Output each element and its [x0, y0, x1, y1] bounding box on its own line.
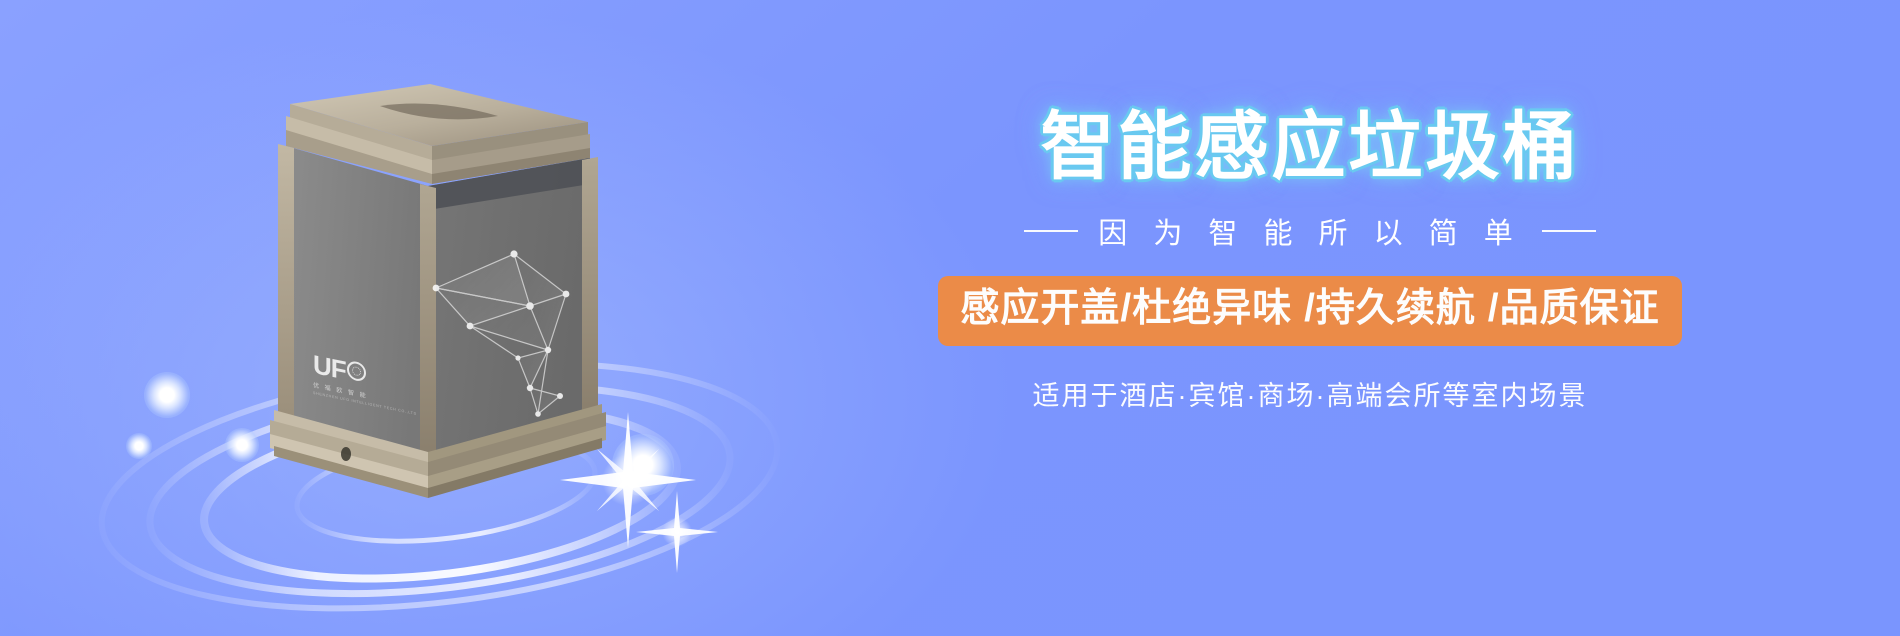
bin-trim-center [420, 184, 436, 456]
rule-right-icon [1542, 230, 1596, 232]
trash-bin-illustration [230, 58, 650, 478]
copy-block: 智能感应垃圾桶 因 为 智 能 所 以 简 单 感应开盖/杜绝异味 /持久续航 … [880, 110, 1740, 413]
page-title: 智能感应垃圾桶 [880, 110, 1740, 184]
rule-left-icon [1024, 230, 1078, 232]
bin-front-face [286, 146, 428, 454]
sensor-slot [341, 447, 351, 461]
bin-trim-right [582, 157, 598, 413]
tagline-text: 因 为 智 能 所 以 简 单 [1098, 210, 1521, 252]
product-banner: UF 优 福 欧 智 能 SHENZHEN UFO INTELLIGENT TE… [0, 0, 1900, 636]
feature-badge: 感应开盖/杜绝异味 /持久续航 /品质保证 [938, 276, 1681, 346]
product-stage: UF 优 福 欧 智 能 SHENZHEN UFO INTELLIGENT TE… [60, 40, 820, 600]
bin-trim-left [278, 144, 294, 428]
usage-scenarios: 适用于酒店·宾馆·商场·高端会所等室内场景 [880, 374, 1740, 413]
tagline: 因 为 智 能 所 以 简 单 [880, 210, 1740, 252]
